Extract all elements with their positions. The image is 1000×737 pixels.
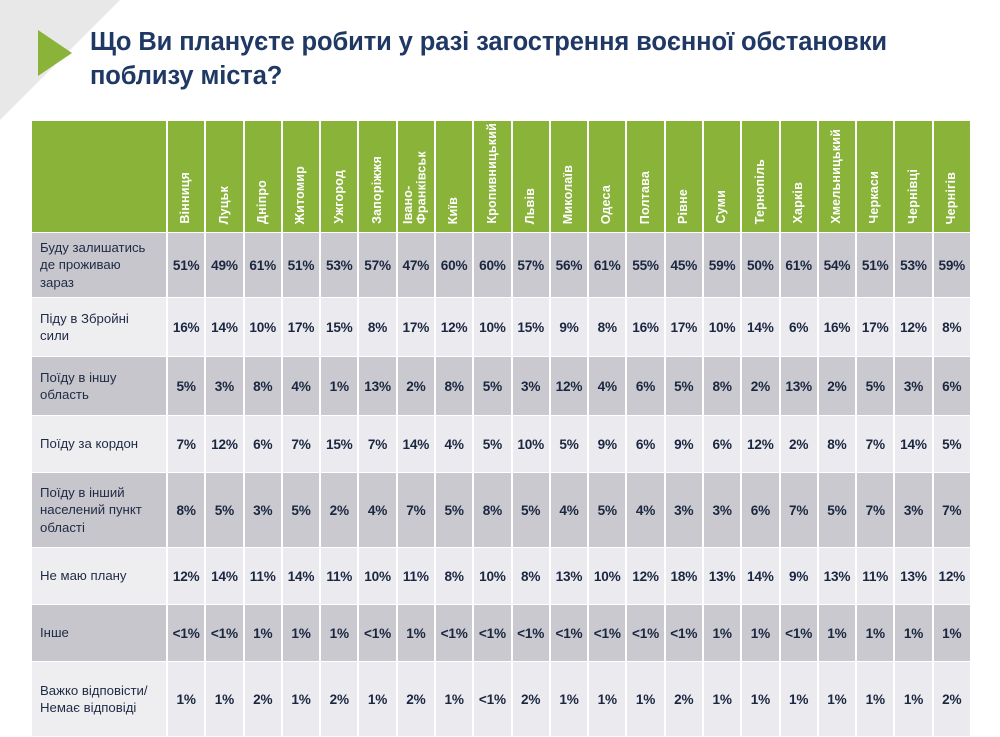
table-cell-value: 1% [857,662,893,736]
table-cell-value: 6% [704,416,740,472]
table-cell-value: 60% [436,233,472,297]
table-cell-value: 59% [704,233,740,297]
table-cell-value: 11% [245,548,281,604]
column-header-city: Миколаїв [551,121,587,232]
table-cell-value: <1% [436,605,472,661]
table-cell-value: 1% [589,662,625,736]
table-cell-value: <1% [666,605,702,661]
table-cell-value: 1% [321,357,357,415]
column-header-label: Київ [447,197,461,224]
column-header-label: Чернівці [907,169,921,224]
table-cell-value: 14% [742,298,778,356]
table-cell-value: 15% [321,298,357,356]
table-cell-value: 11% [321,548,357,604]
table-cell-value: 1% [934,605,970,661]
table-cell-value: 4% [551,473,587,547]
table-cell-value: 16% [627,298,663,356]
table-cell-value: 50% [742,233,778,297]
column-header-label: Івано-Франківськ [402,126,429,224]
table-cell-value: 5% [934,416,970,472]
table-cell-value: 4% [436,416,472,472]
table-cell-value: 2% [398,662,434,736]
table-cell-value: <1% [781,605,817,661]
table-cell-value: 2% [398,357,434,415]
column-header-city: Луцьк [206,121,242,232]
table-row: Піду в Збройні сили16%14%10%17%15%8%17%1… [32,298,970,356]
column-header-label: Луцьк [218,186,232,224]
table-cell-value: 3% [895,473,931,547]
table-row: Поїду в інший населений пункт області8%5… [32,473,970,547]
table-cell-value: 10% [513,416,549,472]
table-header-row: ВінницяЛуцькДніпроЖитомирУжгородЗапоріжж… [32,121,970,232]
table-cell-value: 57% [513,233,549,297]
table-cell-value: 8% [474,473,510,547]
table-header: ВінницяЛуцькДніпроЖитомирУжгородЗапоріжж… [32,121,970,232]
table-cell-value: 2% [245,662,281,736]
table-row: Буду залишатись де проживаю зараз51%49%6… [32,233,970,297]
table-cell-value: 14% [398,416,434,472]
column-header-city: Житомир [283,121,319,232]
table-cell-value: 6% [742,473,778,547]
table-cell-value: 14% [283,548,319,604]
table-cell-value: 49% [206,233,242,297]
table-cell-value: 7% [781,473,817,547]
table-cell-value: 3% [206,357,242,415]
table-cell-value: 1% [895,662,931,736]
table-cell-value: 55% [627,233,663,297]
column-header-city: Дніпро [245,121,281,232]
column-header-city: Хмельницький [819,121,855,232]
table-cell-value: 59% [934,233,970,297]
table-cell-value: 8% [436,357,472,415]
table-cell-value: 1% [398,605,434,661]
table-cell-value: 15% [321,416,357,472]
column-header-city: Запоріжжя [359,121,395,232]
column-header-label: Рівне [677,189,691,224]
table-cell-value: 8% [819,416,855,472]
column-header-city: Івано-Франківськ [398,121,434,232]
table-cell-value: 4% [589,357,625,415]
table-cell-value: 14% [206,548,242,604]
table-cell-value: 7% [857,473,893,547]
table-cell-value: 5% [666,357,702,415]
table-cell-value: 5% [513,473,549,547]
table-cell-value: 1% [436,662,472,736]
column-header-label: Кропивницький [486,123,500,224]
column-header-label: Ужгород [333,170,347,224]
table-cell-value: <1% [359,605,395,661]
table-cell-value: 2% [819,357,855,415]
table-cell-value: 1% [283,662,319,736]
table-cell-value: 1% [704,662,740,736]
table-cell-value: 1% [742,605,778,661]
table-cell-value: 53% [321,233,357,297]
table-cell-value: 6% [627,416,663,472]
table-cell-value: 7% [398,473,434,547]
table-cell-value: 17% [666,298,702,356]
table-cell-value: 6% [781,298,817,356]
table-cell-value: 47% [398,233,434,297]
column-header-label: Вінниця [179,172,193,224]
table-cell-value: 14% [206,298,242,356]
table-cell-value: 54% [819,233,855,297]
table-cell-value: 12% [934,548,970,604]
table-cell-value: 7% [168,416,204,472]
table-cell-value: 10% [245,298,281,356]
table-cell-value: 1% [857,605,893,661]
table-cell-value: 13% [704,548,740,604]
column-header-city: Тернопіль [742,121,778,232]
table-cell-value: 51% [168,233,204,297]
row-label: Поїду в іншу область [32,357,166,415]
row-label: Важко відповісти/Немає відповіді [32,662,166,736]
table-cell-value: 56% [551,233,587,297]
triangle-bullet-icon [38,30,72,76]
row-label: Буду залишатись де проживаю зараз [32,233,166,297]
table-cell-value: 6% [245,416,281,472]
column-header-city: Суми [704,121,740,232]
table-cell-value: 16% [168,298,204,356]
table-row: Інше<1%<1%1%1%1%<1%1%<1%<1%<1%<1%<1%<1%<… [32,605,970,661]
column-header-label: Черкаси [868,171,882,224]
table-cell-value: 12% [168,548,204,604]
column-header-city: Київ [436,121,472,232]
table-cell-value: 3% [895,357,931,415]
column-header-city: Вінниця [168,121,204,232]
table-cell-value: 1% [168,662,204,736]
column-header-label: Тернопіль [754,159,768,224]
table-cell-value: 2% [742,357,778,415]
table-cell-value: 13% [781,357,817,415]
table-cell-value: <1% [589,605,625,661]
column-header-city: Чернівці [895,121,931,232]
table-row: Важко відповісти/Немає відповіді1%1%2%1%… [32,662,970,736]
table-cell-value: 4% [627,473,663,547]
table-cell-value: 11% [857,548,893,604]
column-header-city: Рівне [666,121,702,232]
table-cell-value: 57% [359,233,395,297]
table-cell-value: 9% [551,298,587,356]
table-cell-value: 5% [168,357,204,415]
table-row: Не маю плану12%14%11%14%11%10%11%8%10%8%… [32,548,970,604]
table-cell-value: 7% [359,416,395,472]
table-cell-value: 5% [589,473,625,547]
row-label: Поїду в інший населений пункт області [32,473,166,547]
table-cell-value: 12% [742,416,778,472]
table-cell-value: 8% [934,298,970,356]
table-cell-value: 1% [704,605,740,661]
table-cell-value: 4% [359,473,395,547]
table-cell-value: 5% [474,416,510,472]
table-cell-value: <1% [474,605,510,661]
column-header-city: Кропивницький [474,121,510,232]
table-cell-value: 51% [283,233,319,297]
column-header-label: Хмельницький [830,129,844,224]
table-cell-value: 10% [589,548,625,604]
column-header-label: Полтава [639,171,653,224]
table-cell-value: 9% [781,548,817,604]
table-cell-value: 12% [627,548,663,604]
table-cell-value: 61% [781,233,817,297]
table-cell-value: 1% [283,605,319,661]
table-cell-value: 12% [551,357,587,415]
table-cell-value: 8% [704,357,740,415]
table-cell-value: 2% [321,662,357,736]
table-cell-value: 1% [819,662,855,736]
table-cell-value: 1% [819,605,855,661]
table-cell-value: 3% [704,473,740,547]
column-header-label: Львів [524,188,538,224]
table-cell-value: 17% [283,298,319,356]
table-cell-value: 9% [666,416,702,472]
table-cell-value: 6% [627,357,663,415]
table-cell-value: 1% [781,662,817,736]
survey-table: ВінницяЛуцькДніпроЖитомирУжгородЗапоріжж… [30,120,972,737]
table-cell-value: 13% [359,357,395,415]
table-cell-value: 14% [742,548,778,604]
table-cell-value: 8% [168,473,204,547]
column-header-city: Чернігів [934,121,970,232]
table-row: Поїду за кордон7%12%6%7%15%7%14%4%5%10%5… [32,416,970,472]
table-cell-value: 4% [283,357,319,415]
table-cell-value: 1% [245,605,281,661]
column-header-city: Харків [781,121,817,232]
column-header-label: Запоріжжя [371,156,385,224]
table-cell-value: 3% [666,473,702,547]
table-cell-value: 11% [398,548,434,604]
table-cell-value: 12% [895,298,931,356]
table-cell-value: 8% [589,298,625,356]
table-cell-value: 17% [398,298,434,356]
table-cell-value: 18% [666,548,702,604]
table-cell-value: 13% [551,548,587,604]
table-cell-value: <1% [168,605,204,661]
table-cell-value: 7% [283,416,319,472]
column-header-label: Одеса [600,185,614,224]
table-cell-value: 5% [819,473,855,547]
table-cell-value: <1% [513,605,549,661]
table-cell-value: 8% [359,298,395,356]
table-cell-value: 10% [359,548,395,604]
slide-header: Що Ви плануєте робити у разі загострення… [0,0,1000,92]
table-cell-value: 5% [436,473,472,547]
row-label: Поїду за кордон [32,416,166,472]
table-cell-value: 1% [742,662,778,736]
table-cell-value: 60% [474,233,510,297]
table-cell-value: 8% [513,548,549,604]
table-cell-value: <1% [206,605,242,661]
table-cell-value: 1% [895,605,931,661]
column-header-label: Чернігів [945,172,959,224]
table-row: Поїду в іншу область5%3%8%4%1%13%2%8%5%3… [32,357,970,415]
column-header-city: Ужгород [321,121,357,232]
table-cell-value: 3% [513,357,549,415]
table-cell-value: 10% [474,298,510,356]
table-cell-value: 10% [704,298,740,356]
table-cell-value: 5% [551,416,587,472]
table-cell-value: 5% [283,473,319,547]
table-cell-value: 7% [857,416,893,472]
column-header-label: Харків [792,182,806,224]
table-cell-value: 61% [245,233,281,297]
table-cell-value: <1% [474,662,510,736]
table-cell-value: 17% [857,298,893,356]
table-cell-value: 1% [551,662,587,736]
column-header-label: Суми [715,190,729,224]
table-cell-value: 7% [934,473,970,547]
table-body: Буду залишатись де проживаю зараз51%49%6… [32,233,970,736]
table-corner-cell [32,121,166,232]
table-cell-value: 51% [857,233,893,297]
table-cell-value: 3% [245,473,281,547]
row-label: Піду в Збройні сили [32,298,166,356]
table-cell-value: <1% [551,605,587,661]
column-header-city: Львів [513,121,549,232]
survey-table-container: ВінницяЛуцькДніпроЖитомирУжгородЗапоріжж… [30,120,970,737]
column-header-label: Дніпро [256,180,270,224]
table-cell-value: 9% [589,416,625,472]
table-cell-value: 2% [321,473,357,547]
page-title: Що Ви плануєте робити у разі загострення… [90,26,890,93]
table-cell-value: 1% [359,662,395,736]
row-label: Не маю плану [32,548,166,604]
table-cell-value: 45% [666,233,702,297]
table-cell-value: 1% [627,662,663,736]
table-cell-value: 16% [819,298,855,356]
table-cell-value: 13% [819,548,855,604]
table-cell-value: 8% [436,548,472,604]
table-cell-value: 61% [589,233,625,297]
table-cell-value: <1% [627,605,663,661]
table-cell-value: 15% [513,298,549,356]
column-header-city: Черкаси [857,121,893,232]
table-cell-value: 5% [206,473,242,547]
row-label: Інше [32,605,166,661]
column-header-city: Одеса [589,121,625,232]
column-header-label: Миколаїв [562,165,576,224]
table-cell-value: 2% [934,662,970,736]
table-cell-value: 8% [245,357,281,415]
table-cell-value: 1% [206,662,242,736]
table-cell-value: 10% [474,548,510,604]
table-cell-value: 14% [895,416,931,472]
table-cell-value: 1% [321,605,357,661]
table-cell-value: 53% [895,233,931,297]
column-header-label: Житомир [294,166,308,224]
table-cell-value: 5% [474,357,510,415]
column-header-city: Полтава [627,121,663,232]
table-cell-value: 2% [666,662,702,736]
table-cell-value: 5% [857,357,893,415]
table-cell-value: 6% [934,357,970,415]
table-cell-value: 2% [781,416,817,472]
table-cell-value: 12% [206,416,242,472]
table-cell-value: 13% [895,548,931,604]
table-cell-value: 12% [436,298,472,356]
table-cell-value: 2% [513,662,549,736]
